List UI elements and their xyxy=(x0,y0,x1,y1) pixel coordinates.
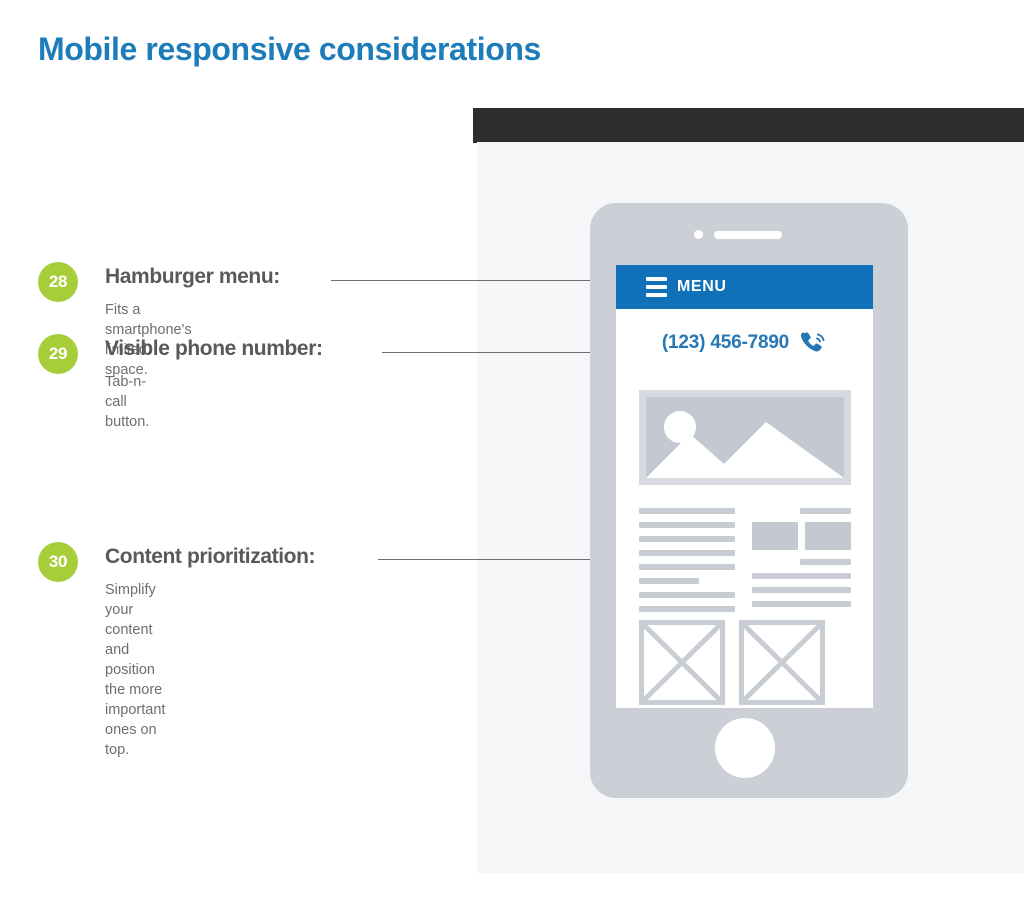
phone-speaker-grill xyxy=(714,231,782,239)
callout-badge-number: 28 xyxy=(38,262,78,302)
page-title: Mobile responsive considerations xyxy=(38,31,541,68)
menu-label: MENU xyxy=(677,278,727,296)
leader-line-30 xyxy=(378,559,614,560)
callout-description: Tab-n-call button. xyxy=(105,372,149,432)
text-line xyxy=(639,606,735,612)
mobile-menu-bar[interactable]: MENU xyxy=(616,265,873,309)
text-line xyxy=(639,536,735,542)
phone-call-icon[interactable] xyxy=(799,329,827,357)
text-line xyxy=(639,578,699,584)
text-line xyxy=(752,587,851,593)
text-line xyxy=(800,559,851,565)
thumbnail-placeholder xyxy=(805,522,851,550)
text-line xyxy=(800,508,851,514)
text-line xyxy=(752,601,851,607)
callout-heading: Visible phone number: xyxy=(105,337,323,361)
text-line xyxy=(639,592,735,598)
content-right-column xyxy=(752,508,851,615)
leader-line-28 xyxy=(331,280,614,281)
text-line xyxy=(639,522,735,528)
callout-badge-number: 29 xyxy=(38,334,78,374)
bottom-placeholder-row xyxy=(639,620,851,705)
text-line xyxy=(752,573,851,579)
crossed-box-placeholder xyxy=(639,620,725,705)
mountains-shape xyxy=(646,416,844,478)
image-placeholder-icon xyxy=(639,390,851,485)
callout-heading: Content prioritization: xyxy=(105,545,315,569)
phone-screen: MENU (123) 456-7890 xyxy=(616,265,873,708)
thumbnail-placeholder xyxy=(752,522,798,550)
content-left-column xyxy=(639,508,735,620)
phone-number-text[interactable]: (123) 456-7890 xyxy=(662,332,789,354)
phone-home-button[interactable] xyxy=(715,718,775,778)
text-line xyxy=(639,550,735,556)
click-to-call-row[interactable]: (123) 456-7890 xyxy=(616,323,873,363)
thumbnail-row xyxy=(752,522,851,550)
callout-badge-number: 30 xyxy=(38,542,78,582)
text-line xyxy=(639,508,735,514)
text-line xyxy=(639,564,735,570)
leader-line-29 xyxy=(382,352,614,353)
callout-description: Simplify your content and position the m… xyxy=(105,580,165,760)
hamburger-icon[interactable] xyxy=(646,277,667,297)
phone-camera-icon xyxy=(694,230,703,239)
top-dark-bar xyxy=(473,108,1024,143)
crossed-box-placeholder xyxy=(739,620,825,705)
callout-heading: Hamburger menu: xyxy=(105,265,280,289)
